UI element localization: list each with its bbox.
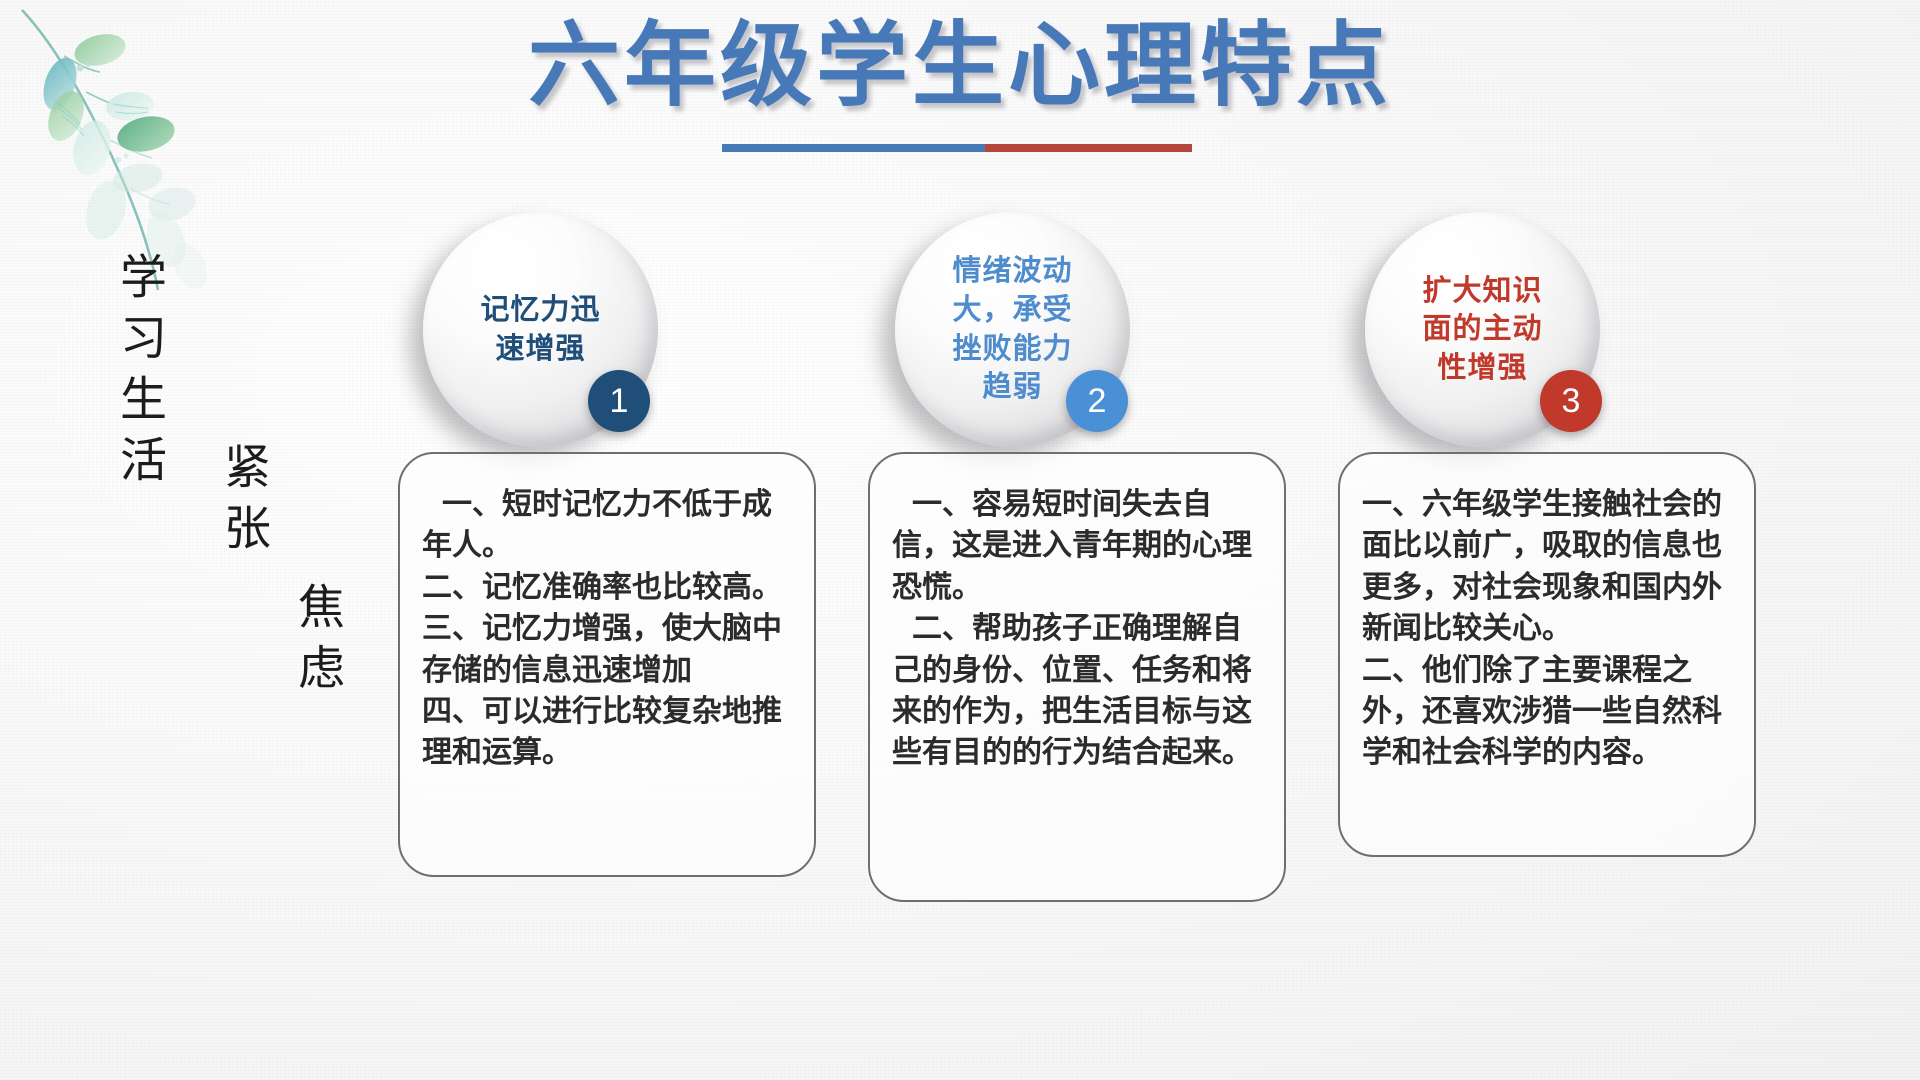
- infobox-line: 二、他们除了主要课程之外，还喜欢涉猎一些自然科学和社会科学的内容。: [1362, 650, 1732, 774]
- infobox-line: 三、记忆力增强，使大脑中存储的信息迅速增加: [422, 608, 792, 691]
- infobox-line: 二、记忆准确率也比较高。: [422, 567, 792, 608]
- title-underline-blue-segment: [722, 144, 985, 152]
- title-underline-red-segment: [985, 144, 1192, 152]
- infobox-line: 二、帮助孩子正确理解自己的身份、位置、任务和将来的作为，把生活目标与这些有目的的…: [892, 608, 1262, 774]
- title-underline: [722, 144, 1192, 152]
- vertical-caption-anxiety: 焦虑: [282, 582, 351, 704]
- topic-number-badge-1: 1: [588, 370, 650, 432]
- topic-sphere-label-3: 扩大知识 面的主动 性增强: [1398, 272, 1568, 388]
- slide-canvas: 六年级学生心理特点 学习生活 紧张 焦虑 记忆力迅 速增强 1 一、短时记忆力不…: [0, 0, 1920, 1080]
- topic-number-badge-2: 2: [1066, 370, 1128, 432]
- infobox-line: 一、短时记忆力不低于成年人。: [422, 484, 792, 567]
- page-title: 六年级学生心理特点: [0, 18, 1920, 115]
- topic-infobox-3: 一、六年级学生接触社会的面比以前广，吸取的信息也更多，对社会现象和国内外新闻比较…: [1338, 452, 1756, 857]
- topic-infobox-2: 一、容易短时间失去自信，这是进入青年期的心理恐慌。 二、帮助孩子正确理解自己的身…: [868, 452, 1286, 902]
- topic-infobox-1: 一、短时记忆力不低于成年人。 二、记忆准确率也比较高。 三、记忆力增强，使大脑中…: [398, 452, 816, 877]
- vertical-caption-tension: 紧张: [208, 442, 277, 564]
- infobox-line: 一、六年级学生接触社会的面比以前广，吸取的信息也更多，对社会现象和国内外新闻比较…: [1362, 484, 1732, 650]
- infobox-line: 一、容易短时间失去自信，这是进入青年期的心理恐慌。: [892, 484, 1262, 608]
- infobox-line: 四、可以进行比较复杂地推理和运算。: [422, 691, 792, 774]
- topic-sphere-label-1: 记忆力迅 速增强: [456, 291, 626, 368]
- vertical-caption-study-life: 学习生活: [104, 252, 173, 496]
- topic-number-badge-3: 3: [1540, 370, 1602, 432]
